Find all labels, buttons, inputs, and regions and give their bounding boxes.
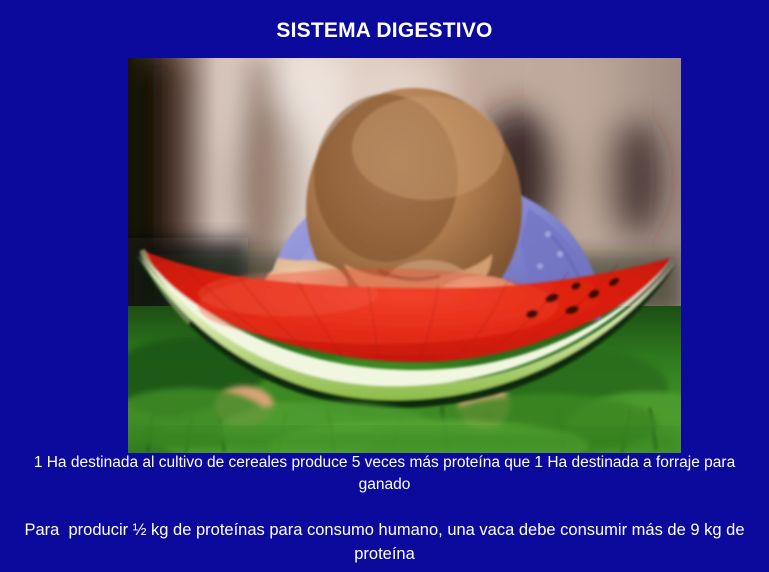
baby-eating-watermelon-photo — [128, 58, 681, 453]
caption-line-1: 1 Ha destinada al cultivo de cereales pr… — [0, 452, 769, 496]
caption-line-2: Para producir ½ kg de proteínas para con… — [0, 518, 769, 566]
photo-illustration — [128, 58, 681, 453]
presentation-slide: SISTEMA DIGESTIVO — [0, 0, 769, 572]
page-title: SISTEMA DIGESTIVO — [0, 18, 769, 44]
